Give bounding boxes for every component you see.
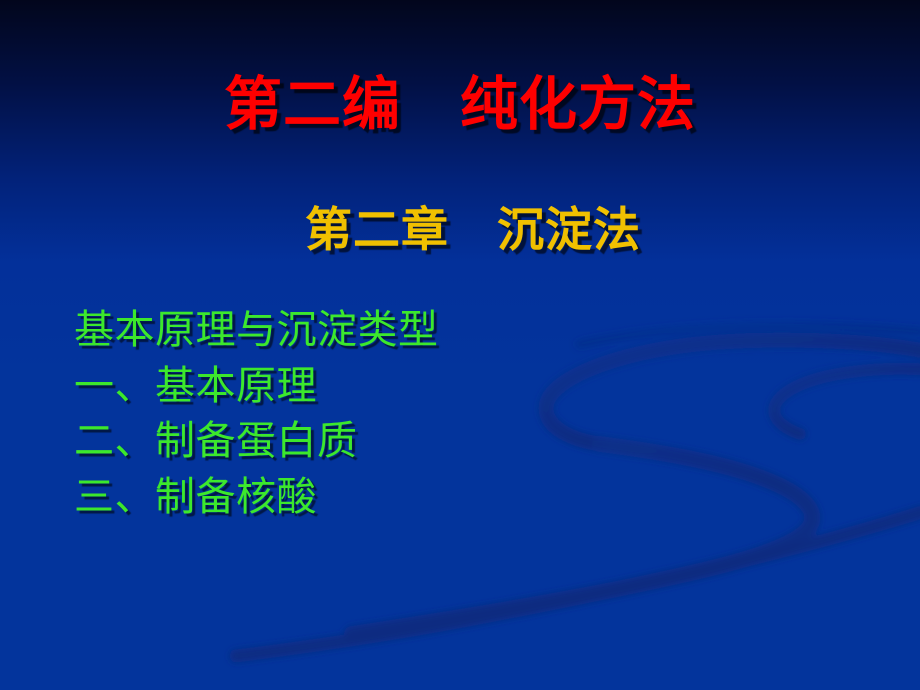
list-item: 一、基本原理: [74, 359, 439, 415]
page-title: 第二编 纯化方法: [0, 70, 920, 138]
page-subtitle: 第二章 沉淀法: [0, 203, 920, 258]
presentation-slide: 第二编 纯化方法 第二章 沉淀法 基本原理与沉淀类型 一、基本原理 二、制备蛋白…: [0, 0, 920, 690]
outline-list: 基本原理与沉淀类型 一、基本原理 二、制备蛋白质 三、制备核酸: [74, 303, 439, 525]
list-item: 三、制备核酸: [74, 470, 439, 526]
list-item: 二、制备蛋白质: [74, 414, 439, 470]
list-item: 基本原理与沉淀类型: [74, 303, 439, 359]
